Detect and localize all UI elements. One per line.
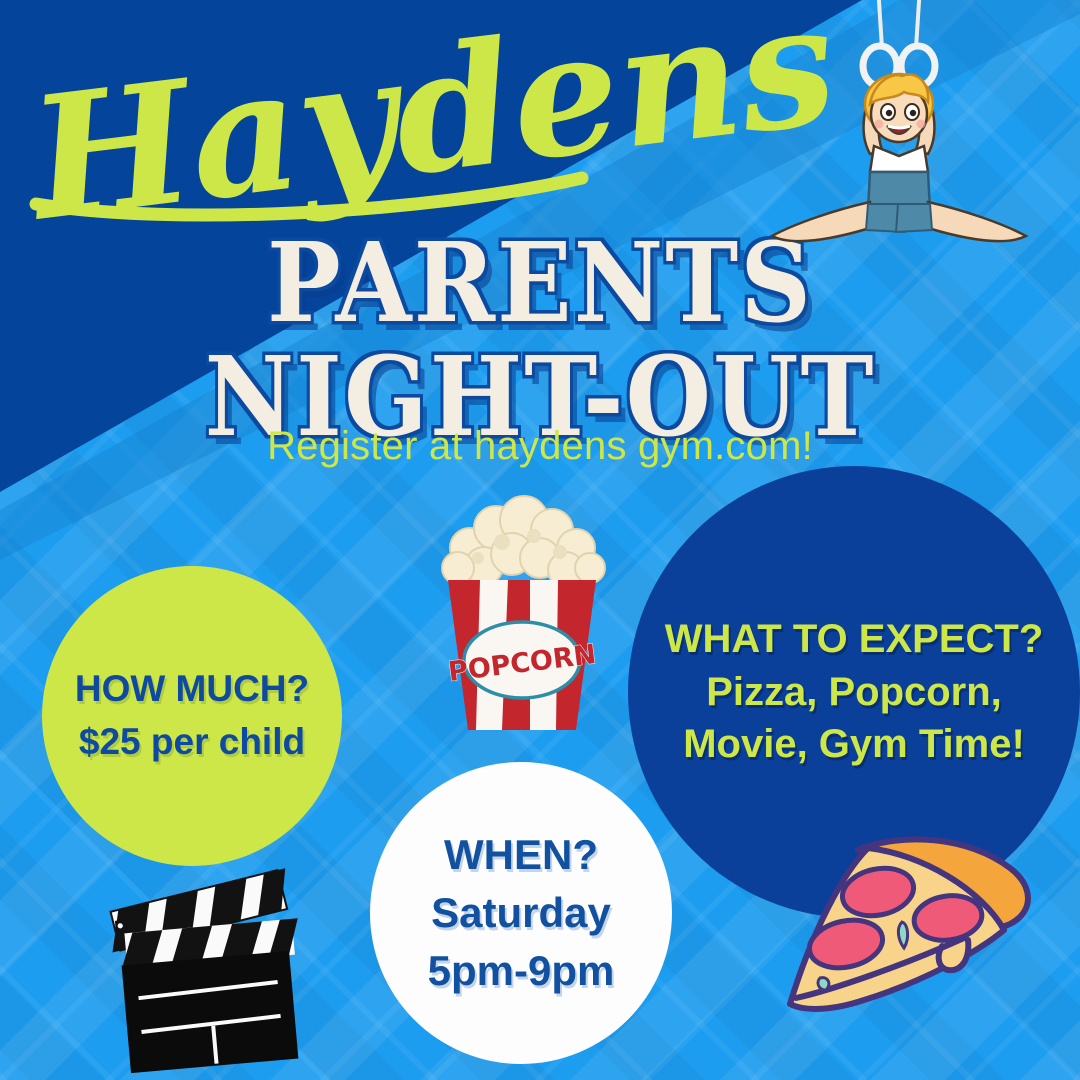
when-bubble: WHEN? Saturday 5pm-9pm (370, 762, 672, 1064)
gymnast-icon (770, 0, 1030, 246)
expect-question: WHAT TO EXPECT? (640, 613, 1068, 666)
price-answer: $25 per child (75, 716, 309, 769)
expect-bubble-content: WHAT TO EXPECT? Pizza, Popcorn, Movie, G… (628, 613, 1080, 771)
registration-subtitle: Register at haydens gym.com! (0, 424, 1080, 469)
when-bubble-content: WHEN? Saturday 5pm-9pm (428, 826, 615, 1000)
brand-logo: Haydens (22, 28, 682, 238)
when-answer-line-2: 5pm-9pm (428, 942, 615, 1000)
when-answer-line-1: Saturday (428, 884, 615, 942)
price-bubble-content: HOW MUCH? $25 per child (69, 663, 315, 768)
price-question: HOW MUCH? (75, 663, 309, 716)
popcorn-icon: POPCORN (424, 484, 620, 736)
expect-answer-line-2: Movie, Gym Time! (640, 718, 1068, 771)
when-question: WHEN? (428, 826, 615, 884)
flyer-poster: Haydens PARENTS NIGHT-OUT Register at ha… (0, 0, 1080, 1080)
price-bubble: HOW MUCH? $25 per child (42, 566, 342, 866)
pizza-icon (772, 812, 1050, 1030)
clapperboard-icon (100, 862, 312, 1072)
expect-answer-line-1: Pizza, Popcorn, (640, 666, 1068, 719)
